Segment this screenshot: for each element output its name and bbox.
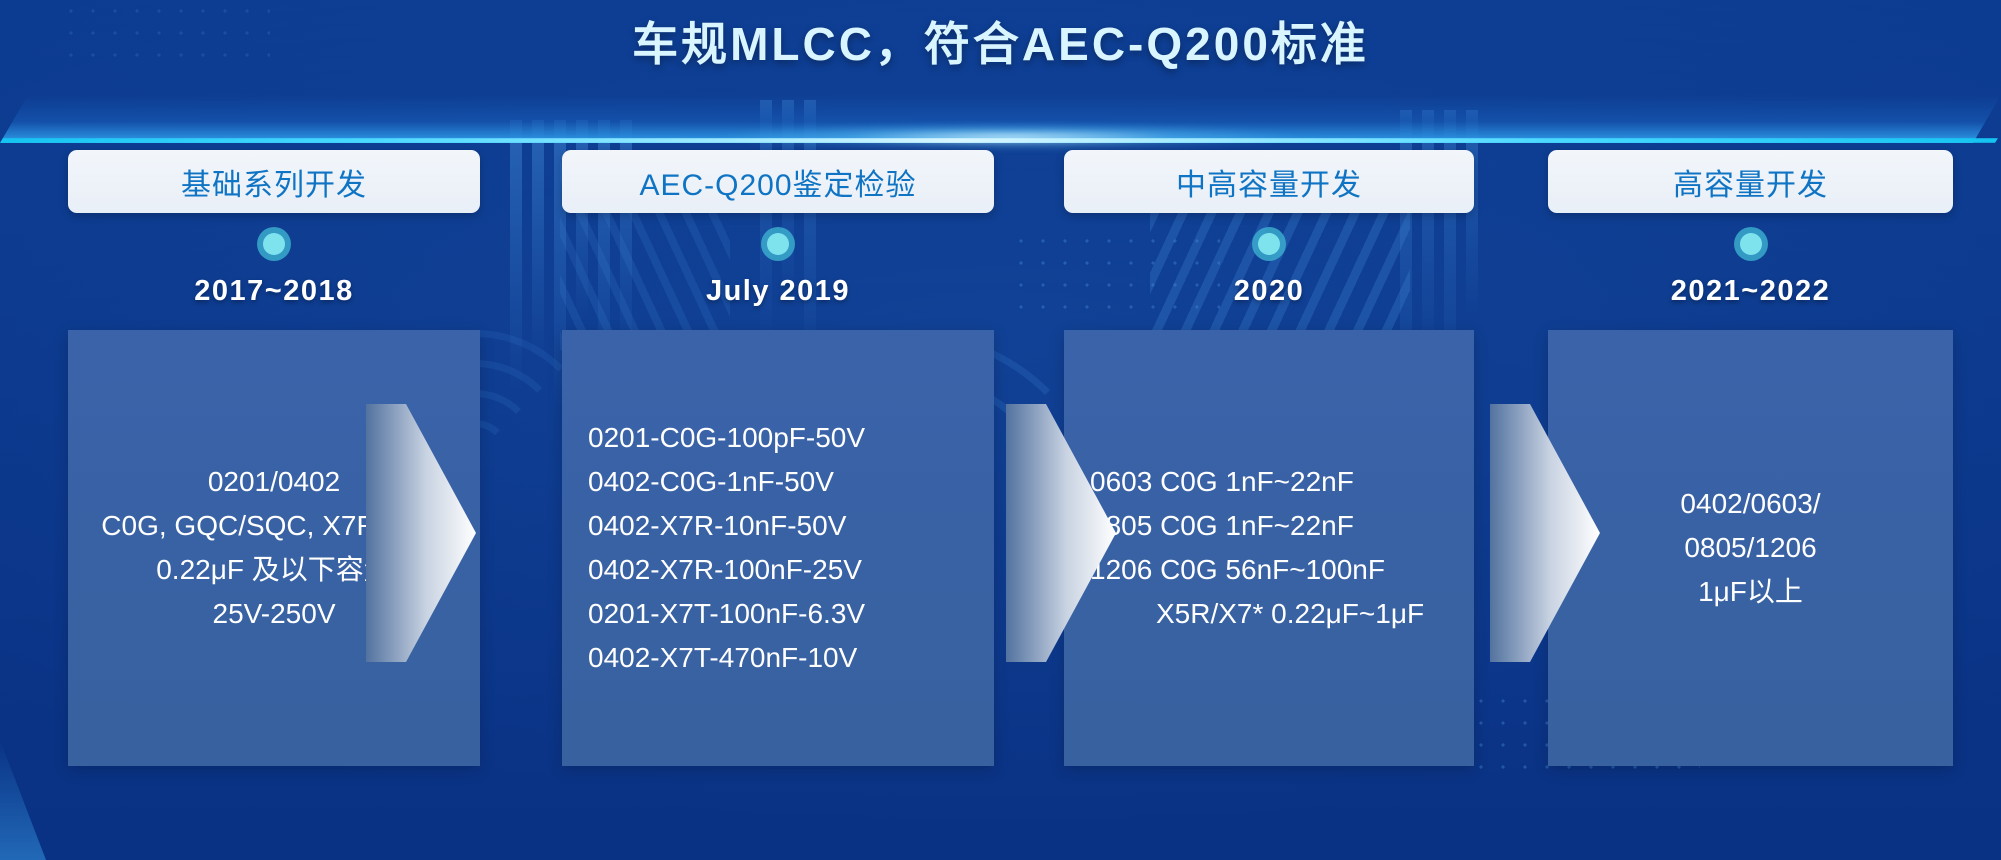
timeline-dot-wrap-1 <box>68 213 480 275</box>
timeline-dot-icon-4 <box>1740 233 1762 255</box>
panel-line: 0402-X7R-10nF-50V <box>562 504 846 548</box>
timeline-column-3: 中高容量开发 2020 0603 C0G 1nF~22nF 0805 C0G 1… <box>1064 150 1474 766</box>
timeline-column-2: AEC-Q200鉴定检验 July 2019 0201-C0G-100pF-50… <box>562 150 994 766</box>
panel-line: 0402-X7T-470nF-10V <box>562 636 857 680</box>
milestone-chip-label-3: 中高容量开发 <box>1176 160 1362 204</box>
panel-line: 1μF以上 <box>1698 570 1803 614</box>
timeline-dot-wrap-3 <box>1064 213 1474 275</box>
panel-line: 0805/1206 <box>1684 526 1816 570</box>
panel-line: X5R/X7* 0.22μF~1μF <box>1064 592 1424 636</box>
panel-line: 25V-250V <box>213 592 336 636</box>
panel-line: 0402/0603/ <box>1680 482 1820 526</box>
timeline-dot-icon-2 <box>767 233 789 255</box>
milestone-chip-label-4: 高容量开发 <box>1673 160 1828 204</box>
timeline-dot-icon-1 <box>263 233 285 255</box>
milestone-year-1: 2017~2018 <box>68 275 480 308</box>
panel-line: 0402-X7R-100nF-25V <box>562 548 862 592</box>
panel-line: 0.22μF 及以下容量 <box>156 548 392 592</box>
panel-line: 0201-X7T-100nF-6.3V <box>562 592 865 636</box>
panel-line: 0201/0402 <box>208 460 340 504</box>
milestone-chip-4[interactable]: 高容量开发 <box>1548 150 1953 213</box>
timeline-dot-icon-3 <box>1258 233 1280 255</box>
timeline-dot-wrap-4 <box>1548 213 1953 275</box>
chevron-arrow-2 <box>1006 404 1116 662</box>
timeline-dot-wrap-2 <box>562 213 994 275</box>
milestone-panel-3: 0603 C0G 1nF~22nF 0805 C0G 1nF~22nF 1206… <box>1064 330 1474 766</box>
timeline-column-4: 高容量开发 2021~2022 0402/0603/ 0805/1206 1μF… <box>1548 150 1953 766</box>
milestone-chip-3[interactable]: 中高容量开发 <box>1064 150 1474 213</box>
milestone-year-3: 2020 <box>1064 275 1474 308</box>
milestone-year-2: July 2019 <box>562 275 994 308</box>
panel-line: 0402-C0G-1nF-50V <box>562 460 834 504</box>
milestone-year-4: 2021~2022 <box>1548 275 1953 308</box>
milestone-chip-label-2: AEC-Q200鉴定检验 <box>639 160 916 204</box>
milestone-panel-2: 0201-C0G-100pF-50V 0402-C0G-1nF-50V 0402… <box>562 330 994 766</box>
milestone-chip-2[interactable]: AEC-Q200鉴定检验 <box>562 150 994 213</box>
milestone-chip-1[interactable]: 基础系列开发 <box>68 150 480 213</box>
chevron-arrow-1 <box>366 404 476 662</box>
milestone-panel-4: 0402/0603/ 0805/1206 1μF以上 <box>1548 330 1953 766</box>
milestone-chip-label-1: 基础系列开发 <box>181 160 367 204</box>
chevron-arrow-3 <box>1490 404 1600 662</box>
panel-line: 0201-C0G-100pF-50V <box>562 416 865 460</box>
